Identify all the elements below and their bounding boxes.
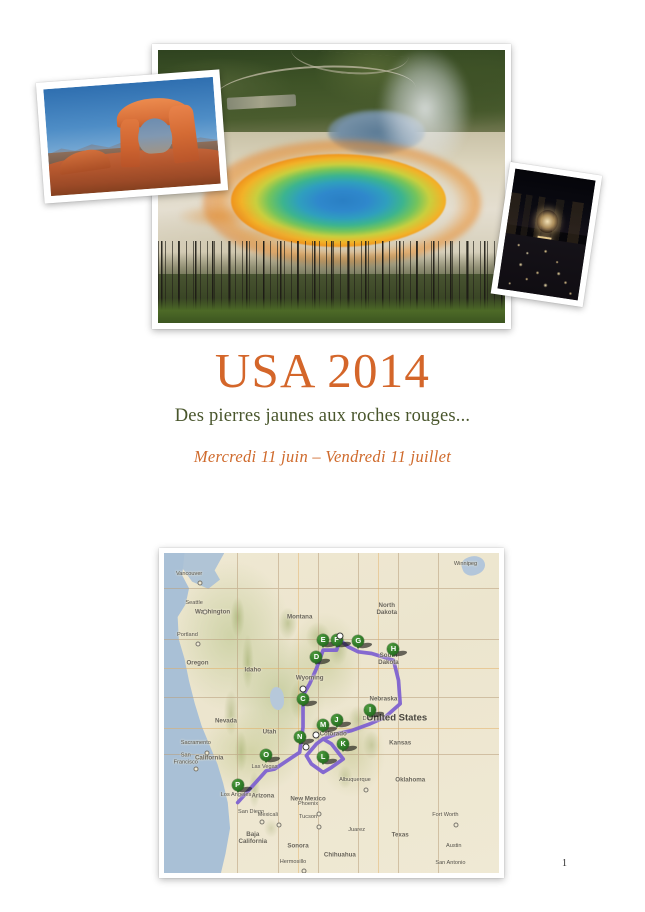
- map-state-label: Nevada: [215, 718, 237, 725]
- map-state-label: Oklahoma: [395, 777, 425, 784]
- marker-letter: H: [387, 643, 399, 655]
- map-city-dot: [194, 767, 199, 772]
- map-city-label: Seattle: [185, 600, 202, 606]
- map-city-dot: [197, 581, 202, 586]
- map-marker-g[interactable]: G: [352, 635, 364, 647]
- title-block: USA 2014 Des pierres jaunes aux roches r…: [0, 346, 645, 467]
- map-city-label: Tucson: [299, 814, 317, 820]
- map-city-dot: [363, 787, 368, 792]
- map-state-label: BajaCalifornia: [238, 831, 267, 845]
- map-marker-p[interactable]: P: [232, 779, 244, 791]
- map-city-dot: [316, 811, 321, 816]
- map-state-label: Kansas: [389, 740, 411, 747]
- marker-letter: E: [317, 634, 329, 646]
- map-waypoint[interactable]: [336, 633, 343, 640]
- marker-letter: I: [364, 704, 376, 716]
- photo-delicate-arch: [36, 69, 228, 203]
- marker-letter: K: [337, 738, 349, 750]
- map-state-label: Arizona: [251, 793, 274, 800]
- map-city-label: SanFrancisco: [174, 753, 198, 766]
- marker-letter: J: [331, 714, 343, 726]
- marker-letter: D: [310, 651, 322, 663]
- map-city-label: Portland: [177, 632, 198, 638]
- delicate-arch-formation: [116, 96, 195, 168]
- marker-letter: O: [260, 749, 272, 761]
- route-map-canvas[interactable]: WashingtonOregonIdahoMontanaWyomingNevad…: [164, 553, 499, 873]
- map-marker-o[interactable]: O: [260, 749, 272, 761]
- map-city-dot: [202, 610, 207, 615]
- map-state-label: Idaho: [245, 666, 262, 673]
- car-headlights: [498, 233, 586, 300]
- map-city-dot: [276, 823, 281, 828]
- map-city-dot: [454, 823, 459, 828]
- marker-letter: L: [317, 751, 329, 763]
- map-state-label: NorthDakota: [376, 602, 397, 616]
- page-subtitle: Des pierres jaunes aux roches rouges...: [0, 406, 645, 427]
- map-city-label: Albuquerque: [339, 777, 371, 783]
- map-state-label: Texas: [392, 831, 409, 838]
- photo-las-vegas-night: [491, 162, 603, 307]
- map-city-dot: [196, 642, 201, 647]
- map-city-label: Fort Worth: [432, 812, 458, 818]
- map-city-label: Austin: [446, 843, 462, 849]
- map-state-label: Oregon: [186, 660, 208, 667]
- trip-dates: Mercredi 11 juin – Vendredi 11 juillet: [0, 447, 645, 467]
- map-marker-h[interactable]: H: [387, 643, 399, 655]
- map-city-dot: [204, 751, 209, 756]
- map-marker-l[interactable]: L: [317, 751, 329, 763]
- map-waypoint[interactable]: [313, 732, 320, 739]
- map-marker-j[interactable]: J: [331, 714, 343, 726]
- map-city-label: Juarez: [348, 827, 365, 833]
- marker-letter: M: [317, 719, 329, 731]
- page-number: 1: [562, 858, 567, 869]
- marker-letter: C: [297, 693, 309, 705]
- map-city-dot: [259, 819, 264, 824]
- map-state-label: Washington: [195, 609, 230, 616]
- map-state-label: California: [195, 754, 224, 761]
- great-salt-lake: [270, 687, 284, 709]
- map-marker-i[interactable]: I: [364, 704, 376, 716]
- marker-letter: G: [352, 635, 364, 647]
- map-city-label: Sacramento: [181, 740, 211, 746]
- map-marker-m[interactable]: M: [317, 719, 329, 731]
- marker-letter: P: [232, 779, 244, 791]
- document-page: USA 2014 Des pierres jaunes aux roches r…: [0, 0, 645, 912]
- map-state-label: Wyoming: [296, 674, 324, 681]
- map-marker-c[interactable]: C: [297, 693, 309, 705]
- map-waypoint[interactable]: [303, 743, 310, 750]
- map-city-label: Hermosillo: [280, 859, 306, 865]
- photo-las-vegas-image: [498, 169, 596, 301]
- map-marker-k[interactable]: K: [337, 738, 349, 750]
- map-state-label: Utah: [263, 729, 277, 736]
- marker-letter: N: [294, 731, 306, 743]
- map-city-label: Vancouver: [176, 571, 202, 577]
- map-city-dot: [301, 869, 306, 873]
- page-title: USA 2014: [0, 346, 645, 396]
- arch-left-leg: [120, 119, 140, 167]
- photo-delicate-arch-image: [43, 77, 220, 196]
- map-city-label: Las Vegas: [251, 764, 277, 770]
- map-marker-e[interactable]: E: [317, 634, 329, 646]
- map-city-label: Phoenix: [298, 801, 318, 807]
- map-marker-n[interactable]: N: [294, 731, 306, 743]
- map-state-label: Chihuahua: [324, 852, 356, 859]
- map-city-dot: [316, 824, 321, 829]
- map-state-label: Sonora: [287, 842, 308, 849]
- map-state-label: Montana: [287, 614, 312, 621]
- map-waypoint[interactable]: [300, 686, 307, 693]
- map-city-label: San Antonio: [435, 860, 465, 866]
- map-city-label: Winnipeg: [454, 561, 477, 567]
- map-state-label: Nebraska: [369, 695, 397, 702]
- route-map-frame[interactable]: WashingtonOregonIdahoMontanaWyomingNevad…: [159, 548, 504, 878]
- map-city-label: Mexicali: [258, 812, 278, 818]
- foreground-grass: [158, 298, 505, 323]
- map-marker-d[interactable]: D: [310, 651, 322, 663]
